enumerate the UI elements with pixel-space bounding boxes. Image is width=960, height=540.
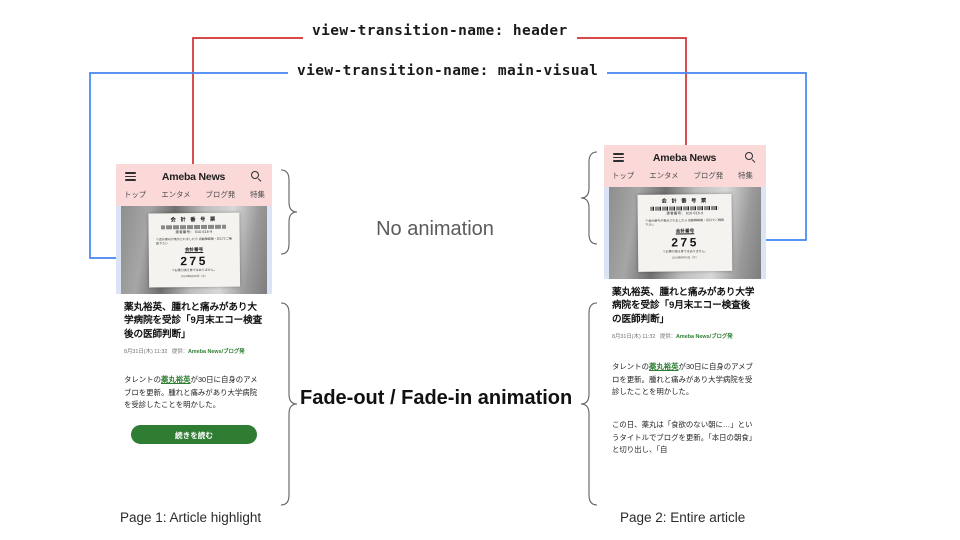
- article-title: 薬丸裕英、腫れと痛みがあり大学病院を受診「9月末エコー検査後の医師判断」: [612, 286, 758, 326]
- article-date: 8月31日(木) 11:32: [612, 334, 655, 340]
- brace-right-bottom: [581, 303, 597, 505]
- phone-mockup-page-1: Ameba News トップ エンタメ ブログ発 特集 会 計 番 号 票 患者…: [116, 164, 272, 500]
- brace-left-top: [281, 170, 297, 254]
- app-topbar: Ameba News: [116, 164, 272, 189]
- receipt-title: 会 計 番 号 票: [662, 197, 708, 204]
- brace-right-top: [581, 152, 597, 244]
- receipt-footer: ※お薬引換え券ではありません。: [172, 268, 217, 272]
- article-title: 薬丸裕英、腫れと痛みがあり大学病院を受診「9月末エコー検査後の医師判断」: [124, 301, 264, 341]
- receipt-subtitle: 会計番号: [676, 228, 694, 234]
- article-source-label: 提供：: [660, 334, 676, 340]
- app-brand-title: Ameba News: [624, 152, 745, 164]
- nav-tab-blog[interactable]: ブログ発: [206, 189, 236, 200]
- receipt-note: ※会計番号が表示されましたら 自動精算機・窓口でご精算下さい: [645, 217, 724, 226]
- article-source: Ameba News/ブログ発: [188, 349, 245, 355]
- nav-tab-entame[interactable]: エンタメ: [161, 189, 190, 200]
- article-source-label: 提供：: [172, 349, 188, 355]
- article-body: 薬丸裕英、腫れと痛みがあり大学病院を受診「9月末エコー検査後の医師判断」 8月3…: [604, 279, 766, 457]
- fade-animation-label: Fade-out / Fade-in animation: [300, 385, 570, 411]
- brace-left-bottom: [281, 303, 297, 505]
- article-date: 8月31日(木) 11:32: [124, 349, 167, 355]
- nav-tab-top[interactable]: トップ: [124, 189, 146, 200]
- receipt-barcode: [651, 206, 718, 211]
- article-person-link[interactable]: 薬丸裕英: [161, 375, 191, 384]
- nav-tab-top[interactable]: トップ: [612, 170, 634, 181]
- receipt-subtitle: 会計番号: [185, 247, 203, 253]
- receipt-number: 275: [671, 236, 699, 248]
- receipt-title: 会 計 番 号 票: [171, 216, 217, 223]
- article-body: 薬丸裕英、腫れと痛みがあり大学病院を受診「9月末エコー検査後の医師判断」 8月3…: [116, 294, 272, 444]
- header-connector-path: [193, 38, 320, 170]
- receipt-date: 2023年8月30日（水）: [672, 255, 699, 259]
- app-nav-tabs: トップ エンタメ ブログ発 特集: [604, 170, 766, 187]
- article-second-paragraph: この日、薬丸は「食欲のない朝に…」というタイトルでブログを更新。「本日の朝食」と…: [612, 419, 758, 457]
- article-person-link[interactable]: 薬丸裕英: [649, 362, 679, 371]
- receipt-barcode: [162, 224, 226, 229]
- receipt-patient-line: 患者番号： 616-616-9: [175, 230, 212, 235]
- main-visual-image: 会 計 番 号 票 患者番号： 616-616-9 ※会計番号が表示されましたら…: [121, 206, 267, 294]
- app-header: Ameba News トップ エンタメ ブログ発 特集: [116, 164, 272, 206]
- article-meta: 8月31日(木) 11:32 提供：Ameba News/ブログ発: [124, 348, 264, 356]
- receipt-patient-line: 患者番号： 616-616-9: [666, 211, 703, 216]
- diagram-stage: view-transition-name: header view-transi…: [0, 0, 960, 540]
- caption-page-2: Page 2: Entire article: [620, 510, 745, 525]
- receipt-number: 275: [180, 254, 208, 266]
- search-icon[interactable]: [745, 152, 757, 164]
- lead-prefix: タレントの: [612, 362, 649, 371]
- caption-page-1: Page 1: Article highlight: [120, 510, 261, 525]
- main-visual-wrapper: 会 計 番 号 票 患者番号： 616-616-9 ※会計番号が表示されましたら…: [116, 206, 272, 294]
- main-visual-wrapper: 会 計 番 号 票 患者番号： 616-616-9 ※会計番号が表示されましたら…: [604, 187, 766, 279]
- phone-mockup-page-2: Ameba News トップ エンタメ ブログ発 特集 会 計 番 号 票 患者…: [604, 145, 766, 500]
- view-transition-header-label: view-transition-name: header: [303, 23, 577, 39]
- main-visual-image: 会 計 番 号 票 患者番号： 616-616-9 ※会計番号が表示されましたら…: [609, 187, 761, 279]
- lead-prefix: タレントの: [124, 375, 161, 384]
- receipt-footer: ※お薬引換え券ではありません。: [663, 249, 708, 253]
- article-source: Ameba News/ブログ発: [676, 334, 733, 340]
- receipt-date: 2023年8月30日（水）: [181, 273, 208, 277]
- app-header: Ameba News トップ エンタメ ブログ発 特集: [604, 145, 766, 187]
- receipt-photo: 会 計 番 号 票 患者番号： 616-616-9 ※会計番号が表示されましたら…: [637, 194, 732, 272]
- no-animation-label: No animation: [310, 218, 560, 241]
- header-connector-path-right: [568, 38, 686, 152]
- article-lead-paragraph: タレントの薬丸裕英が30日に自身のアメブロを更新。腫れと痛みがあり大学病院を受診…: [612, 361, 758, 399]
- hamburger-icon[interactable]: [125, 172, 136, 181]
- read-more-button[interactable]: 続きを読む: [131, 425, 257, 444]
- nav-tab-feature[interactable]: 特集: [250, 189, 265, 200]
- view-transition-mainvisual-label: view-transition-name: main-visual: [288, 63, 607, 79]
- nav-tab-feature[interactable]: 特集: [738, 170, 753, 181]
- article-meta: 8月31日(木) 11:32 提供：Ameba News/ブログ発: [612, 333, 758, 341]
- search-icon[interactable]: [251, 171, 263, 183]
- receipt-note: ※会計番号が表示されましたら 自動精算機・窓口でご精算下さい: [156, 236, 232, 245]
- app-brand-title: Ameba News: [136, 171, 251, 183]
- app-topbar: Ameba News: [604, 145, 766, 170]
- article-lead-paragraph: タレントの薬丸裕英が30日に自身のアメブロを更新。腫れと痛みがあり大学病院を受診…: [124, 374, 264, 412]
- hamburger-icon[interactable]: [613, 153, 624, 162]
- nav-tab-blog[interactable]: ブログ発: [694, 170, 724, 181]
- app-nav-tabs: トップ エンタメ ブログ発 特集: [116, 189, 272, 206]
- nav-tab-entame[interactable]: エンタメ: [649, 170, 678, 181]
- receipt-photo: 会 計 番 号 票 患者番号： 616-616-9 ※会計番号が表示されましたら…: [148, 213, 239, 288]
